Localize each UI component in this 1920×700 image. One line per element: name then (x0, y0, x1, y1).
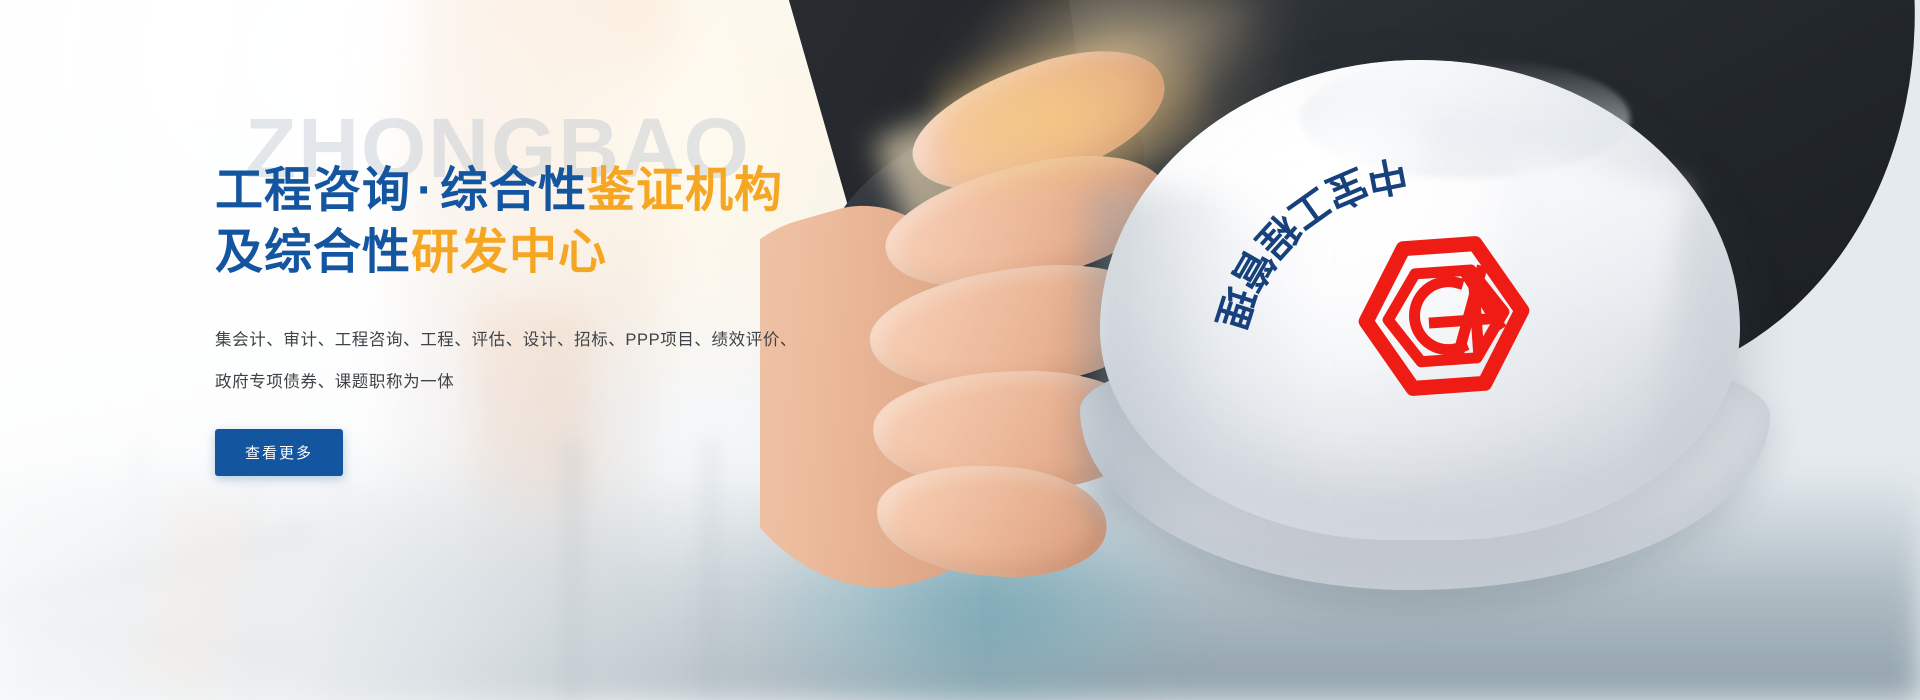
hard-hat-brand-text: 中宝工程管理 (1180, 140, 1500, 520)
hero-description: 集会计、审计、工程咨询、工程、评估、设计、招标、PPP项目、绩效评价、 政府专项… (215, 319, 935, 403)
hard-hat: 中宝工程管理 (1060, 40, 1760, 600)
headline-line2-accent: 研发中心 (411, 226, 607, 279)
view-more-button[interactable]: 查看更多 (215, 429, 343, 476)
headline-line2-part1: 及综合性 (215, 226, 411, 279)
hero-banner: 中宝工程管理 ZHONGBAO 工程咨询·综合性鉴证机构 及综合性研发中心 集会… (0, 0, 1920, 700)
hero-description-line-2: 政府专项债券、课题职称为一体 (215, 361, 935, 403)
headline-line1-part1: 工程咨询 (215, 164, 411, 217)
hard-hat-brand-text-path: 中宝工程管理 (1206, 151, 1410, 339)
headline-line-2: 及综合性研发中心 (215, 222, 935, 284)
hero-description-line-1: 集会计、审计、工程咨询、工程、评估、设计、招标、PPP项目、绩效评价、 (215, 319, 935, 361)
headline-line1-accent: 鉴证机构 (587, 164, 783, 217)
headline-separator-dot: · (411, 164, 440, 217)
page-title: 工程咨询·综合性鉴证机构 及综合性研发中心 (215, 160, 935, 285)
headline-line1-part2: 综合性 (440, 164, 587, 217)
headline-line-1: 工程咨询·综合性鉴证机构 (215, 160, 935, 222)
hero-content: ZHONGBAO 工程咨询·综合性鉴证机构 及综合性研发中心 集会计、审计、工程… (215, 118, 935, 476)
svg-text:中宝工程管理: 中宝工程管理 (1206, 151, 1410, 339)
